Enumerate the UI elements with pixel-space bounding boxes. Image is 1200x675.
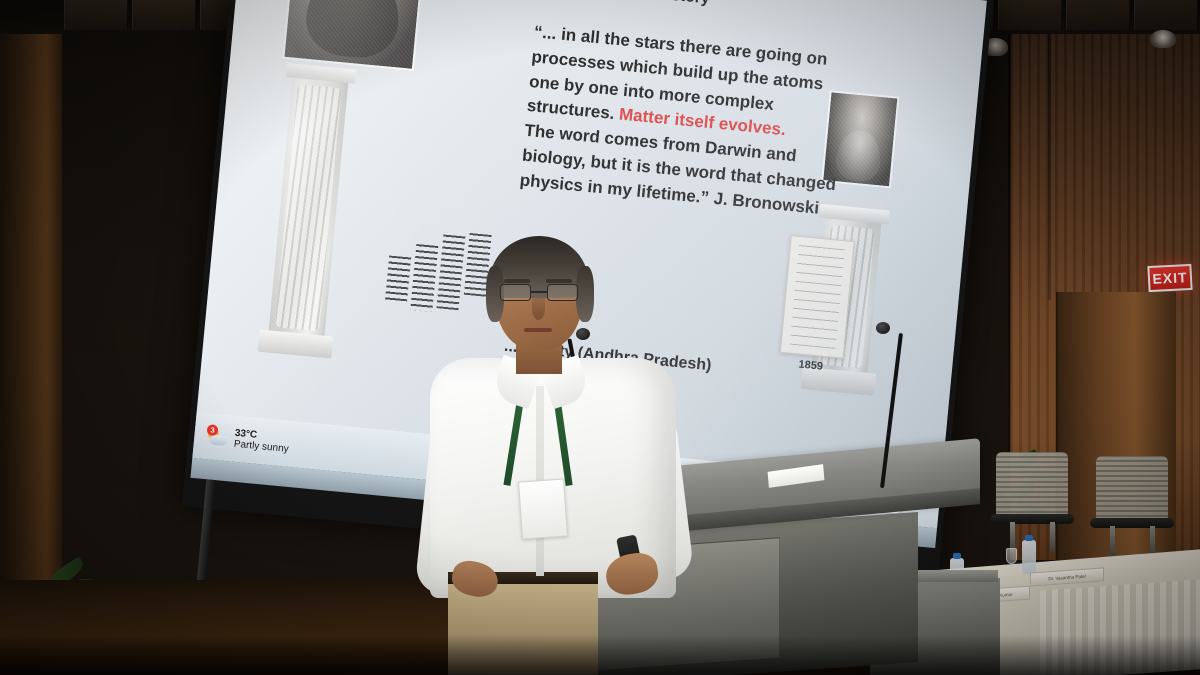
wall-seam: [1048, 0, 1051, 300]
partly-sunny-icon: 3: [206, 426, 230, 448]
eyeglass-bridge: [531, 291, 547, 293]
stage-chair-right: [1096, 456, 1168, 552]
eyeglass-lens-right: [547, 284, 578, 301]
ceiling-panel: [1066, 0, 1130, 30]
speaker-person: [424, 236, 684, 675]
chair-armrest: [1090, 518, 1174, 528]
ceiling-panel: [64, 0, 128, 30]
chair-back: [1096, 456, 1168, 522]
chair-leg: [1050, 522, 1055, 552]
weather-text: 33°C Partly sunny: [233, 427, 290, 455]
ceiling-panel: [1134, 0, 1198, 30]
drinking-glass: [1006, 548, 1017, 564]
speaker-hair-side: [576, 266, 594, 322]
microphone-head-right: [876, 322, 890, 334]
cloud-icon: [210, 434, 228, 446]
taskbar-weather-widget[interactable]: 3 33°C Partly sunny: [205, 425, 290, 456]
speaker-eyebrow-right: [546, 279, 572, 283]
ceiling-panel: [998, 0, 1062, 30]
conference-photo-scene: — □ ✕ Video Control EXIT: [0, 0, 1200, 675]
speaker-eyebrow-left: [504, 279, 530, 283]
wall-seam: [1008, 0, 1011, 520]
chair-leg: [1150, 526, 1155, 556]
bottle-cap: [1025, 535, 1033, 541]
speaker-nose: [532, 298, 545, 320]
exit-sign: EXIT: [1147, 264, 1192, 292]
ceiling-panel: [132, 0, 196, 30]
exit-sign-label: EXIT: [1152, 269, 1188, 287]
chair-back: [996, 452, 1068, 518]
water-bottle: [1022, 540, 1036, 574]
eyeglass-lens-left: [500, 284, 531, 301]
floor-shadow: [0, 635, 1200, 675]
speaker-mouth: [524, 328, 552, 332]
chair-armrest: [990, 514, 1074, 524]
conference-badge: [518, 478, 568, 539]
stage-chair-left: [996, 452, 1068, 548]
chair-leg: [1110, 526, 1115, 556]
ceiling-spotlight: [1150, 30, 1176, 48]
